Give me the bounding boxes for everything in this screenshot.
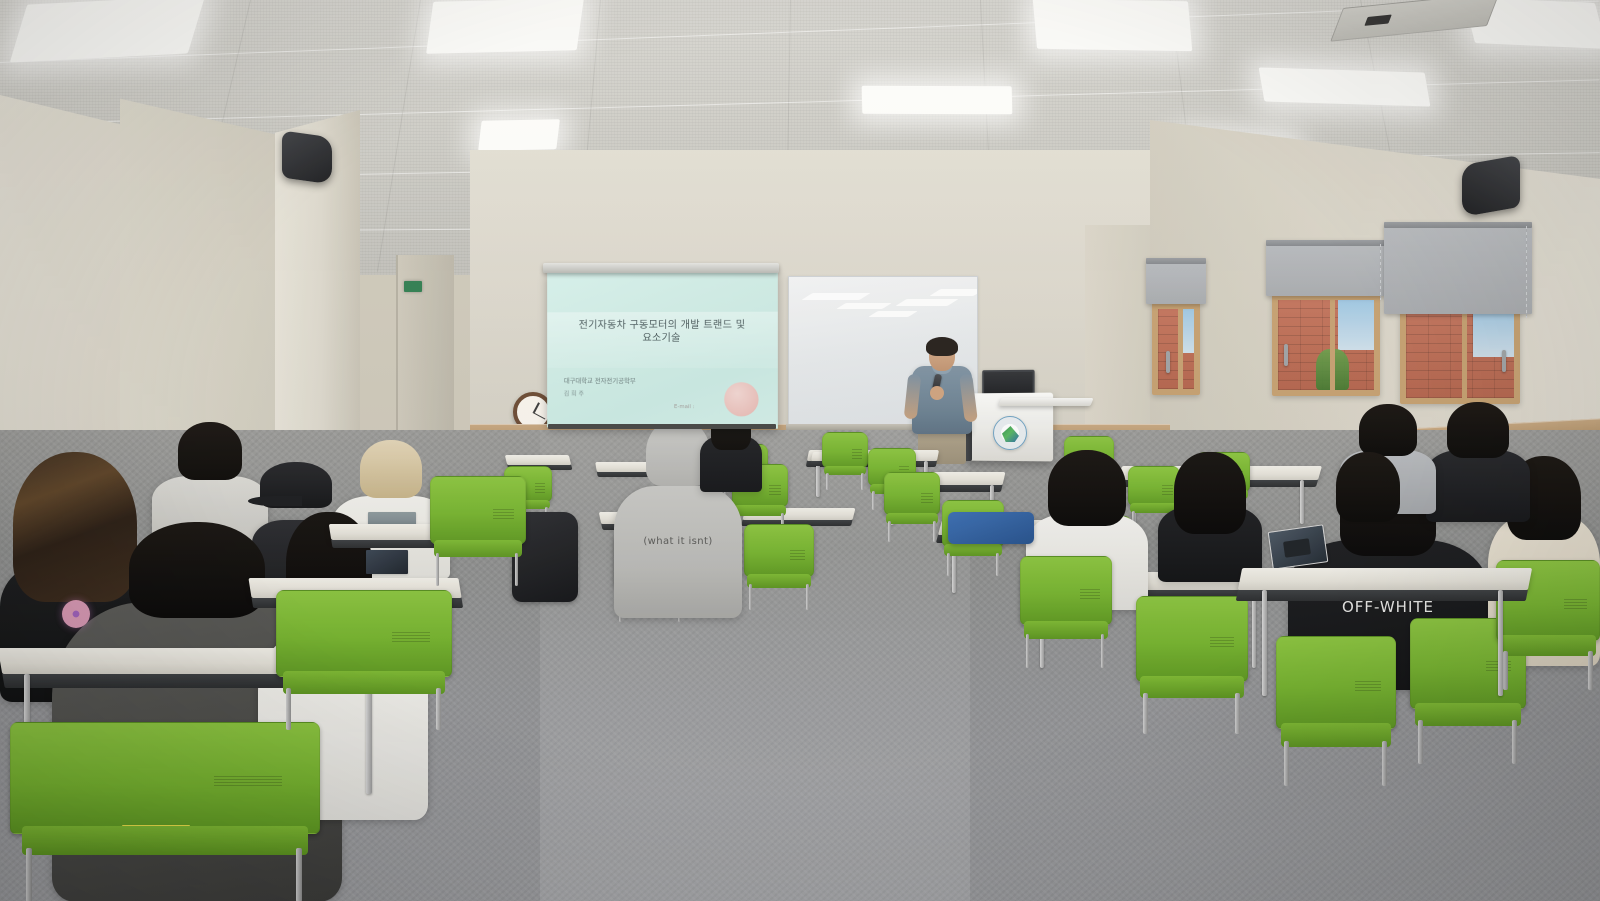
lectern-top-surface <box>998 398 1093 406</box>
desk-leg <box>1498 590 1503 696</box>
desk-leg <box>1262 590 1267 696</box>
window-right[interactable] <box>1400 300 1520 404</box>
window-far[interactable] <box>1152 303 1200 395</box>
slide-title-line-2: 요소기술 <box>553 332 772 345</box>
slide-email: E-mail : <box>674 404 694 410</box>
lecture-hall-photo: 전기자동차 구동모터의 개발 트랜드 및 요소기술 대구대학교 전자전기공학부 … <box>0 0 1600 901</box>
chair[interactable] <box>430 476 526 586</box>
slide-decoration-circle <box>724 382 758 416</box>
projection-screen-weight-bar <box>548 424 776 429</box>
slide-title-line-1: 전기자동차 구동모터의 개발 트랜드 및 <box>553 319 772 332</box>
ceiling-light-panel <box>478 119 560 151</box>
blonde-hair <box>360 440 422 498</box>
window-blind-right[interactable] <box>1384 222 1532 314</box>
tablet-on-desk[interactable] <box>366 550 408 574</box>
pink-handheld-fan <box>62 600 90 628</box>
student-back-black-top <box>1426 402 1530 522</box>
presenter-hair <box>926 337 958 356</box>
blue-tote-bag <box>948 512 1034 544</box>
projection-screen: 전기자동차 구동모터의 개발 트랜드 및 요소기술 대구대학교 전자전기공학부 … <box>547 271 778 428</box>
chair[interactable] <box>884 472 940 542</box>
desk <box>505 455 571 465</box>
wall-speaker-right <box>1462 155 1520 217</box>
black-long-sleeve <box>1426 450 1530 522</box>
black-baseball-cap <box>260 462 332 508</box>
desk <box>1238 568 1532 590</box>
desk-leg <box>816 461 820 497</box>
dark-hair <box>129 522 265 618</box>
slide-title: 전기자동차 구동모터의 개발 트랜드 및 요소기술 <box>553 319 772 345</box>
slide-affiliation: 대구대학교 전자전기공학부 <box>564 376 636 386</box>
window-near[interactable] <box>1272 294 1380 396</box>
gray-hoodie <box>614 486 742 618</box>
hoodie-print-text: (what it isnt) <box>614 536 742 547</box>
presenter-hand <box>930 386 944 400</box>
slide-presenter-name: 김 희 주 <box>564 389 584 398</box>
window-blind-far[interactable] <box>1146 258 1206 304</box>
dark-hair <box>1447 402 1509 458</box>
chair[interactable] <box>822 432 868 490</box>
dark-bob-hair <box>1048 450 1126 526</box>
chair[interactable] <box>1020 556 1112 668</box>
chair[interactable] <box>744 524 814 610</box>
projection-screen-housing <box>543 263 779 273</box>
chair[interactable] <box>276 590 452 730</box>
student-right-long-hair <box>1158 452 1262 582</box>
chair[interactable] <box>1136 596 1248 734</box>
exit-sign <box>404 281 422 292</box>
long-dark-hair <box>1174 452 1246 534</box>
ceiling-light-panel <box>426 0 584 54</box>
chair[interactable] <box>10 722 320 901</box>
student-foreground-right-glasses <box>1322 452 1414 572</box>
dark-hair <box>1336 452 1400 522</box>
desk-leg <box>1252 590 1256 668</box>
university-emblem <box>993 416 1027 450</box>
chair[interactable] <box>1276 636 1396 786</box>
wall-speaker-left <box>282 130 332 184</box>
window-blind-near[interactable] <box>1266 240 1386 296</box>
ceiling-light-panel <box>10 0 205 63</box>
hair <box>178 422 242 480</box>
dark-hair <box>1359 404 1417 456</box>
ceiling-light-panel <box>1033 0 1193 51</box>
ceiling-light-panel <box>862 86 1013 115</box>
ceiling-light-panel <box>1259 67 1431 106</box>
